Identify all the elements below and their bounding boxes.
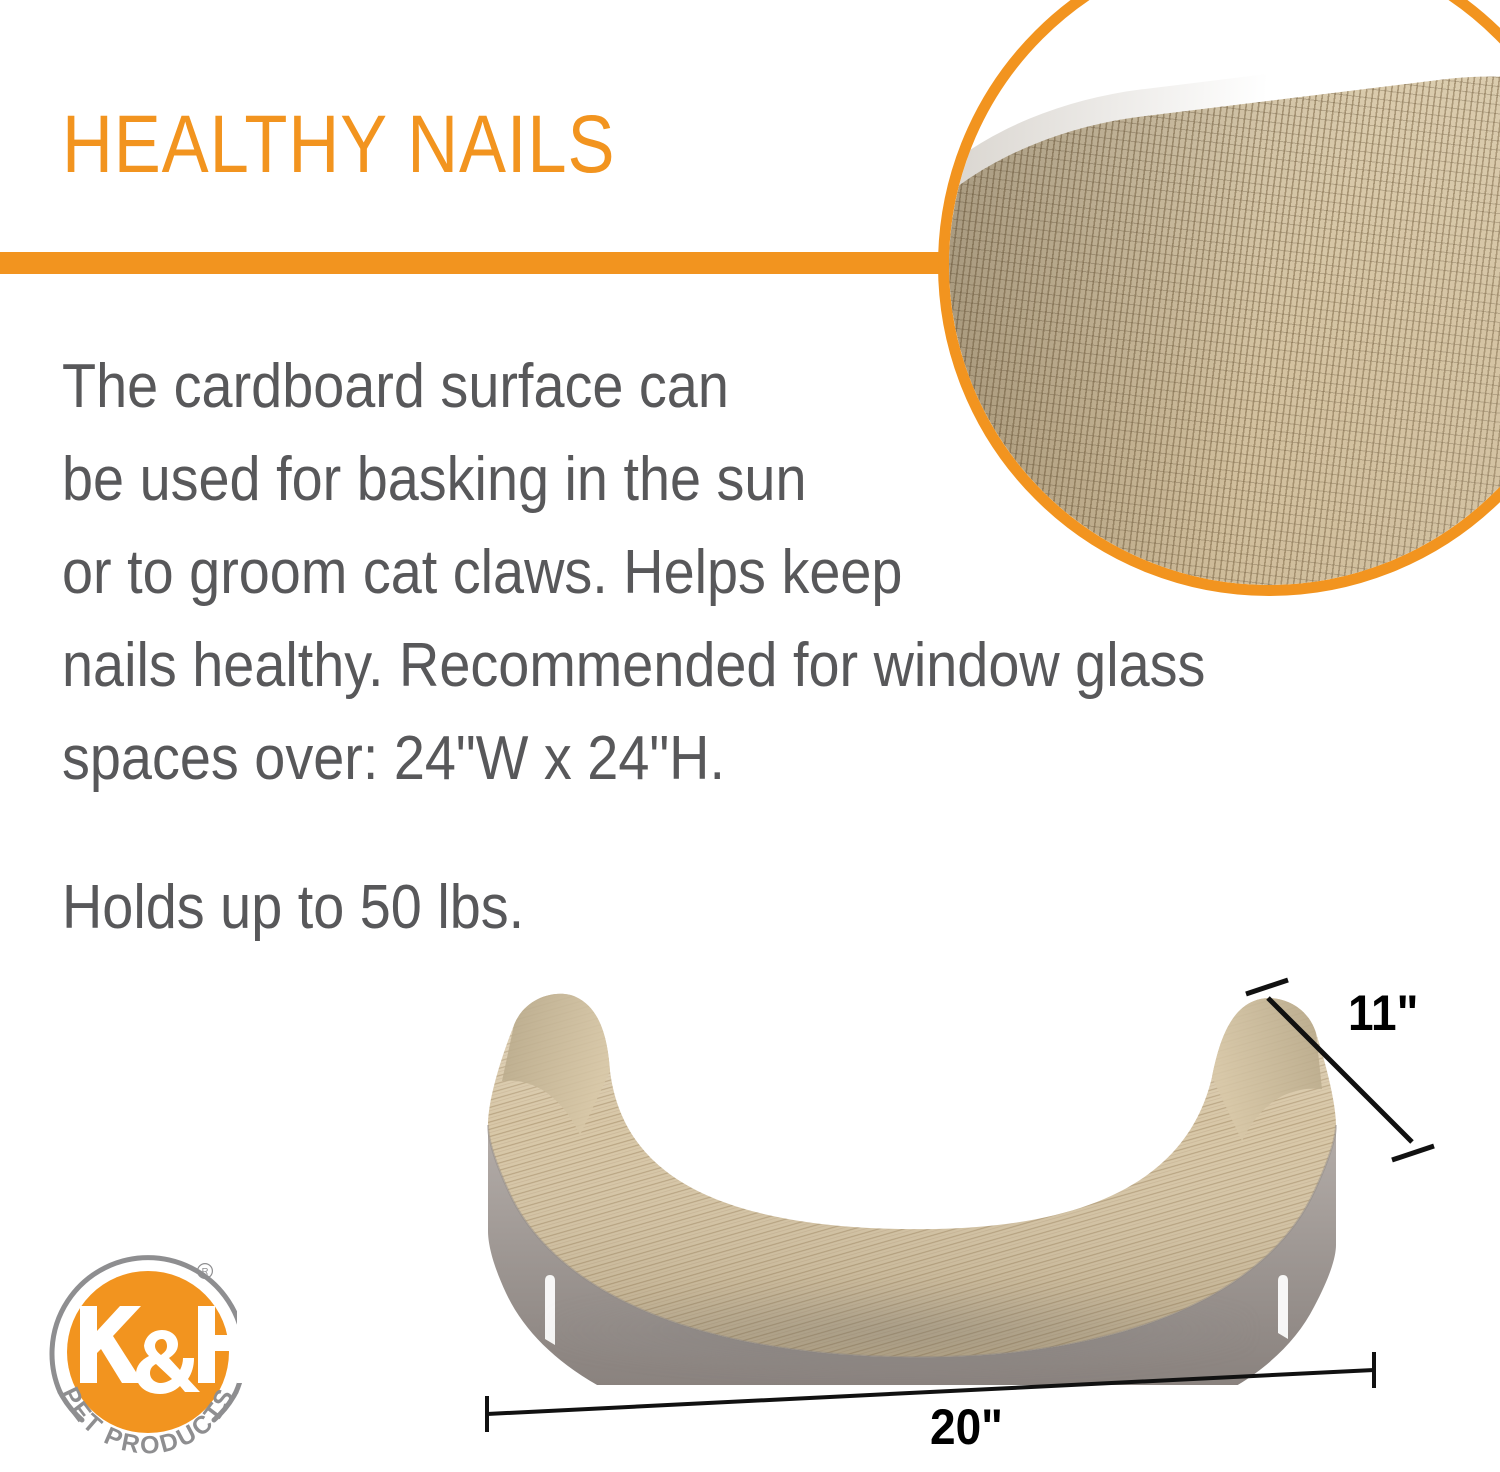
header-rule-divider: [0, 252, 948, 274]
body-line-3: or to groom cat claws. Helps keep: [62, 526, 1340, 619]
page-title: HEALTHY NAILS: [62, 100, 615, 190]
registered-icon: R: [196, 1262, 214, 1280]
product-drop-shadow: [550, 1285, 1250, 1375]
infographic-page: HEALTHY NAILS The cardboard surface can …: [0, 0, 1500, 1472]
weight-capacity-text: Holds up to 50 lbs.: [62, 868, 524, 948]
dimension-label-width: 20": [930, 1398, 1003, 1456]
kh-logo-svg: PET PRODUCTS: [36, 1244, 286, 1472]
body-line-2: be used for basking in the sun: [62, 433, 1340, 526]
body-line-4: nails healthy. Recommended for window gl…: [62, 619, 1340, 712]
body-copy: The cardboard surface can be used for ba…: [62, 340, 1482, 805]
body-line-1: The cardboard surface can: [62, 340, 1340, 433]
kh-logo: PET PRODUCTS: [36, 1244, 286, 1472]
logo-registered-mark: R: [196, 1262, 214, 1283]
body-line-5: spaces over: 24"W x 24"H.: [62, 712, 1340, 805]
svg-text:R: R: [202, 1267, 209, 1278]
dimension-label-depth: 11": [1348, 984, 1418, 1042]
base-notch-right: [1278, 1275, 1288, 1339]
product-image: [430, 985, 1410, 1385]
